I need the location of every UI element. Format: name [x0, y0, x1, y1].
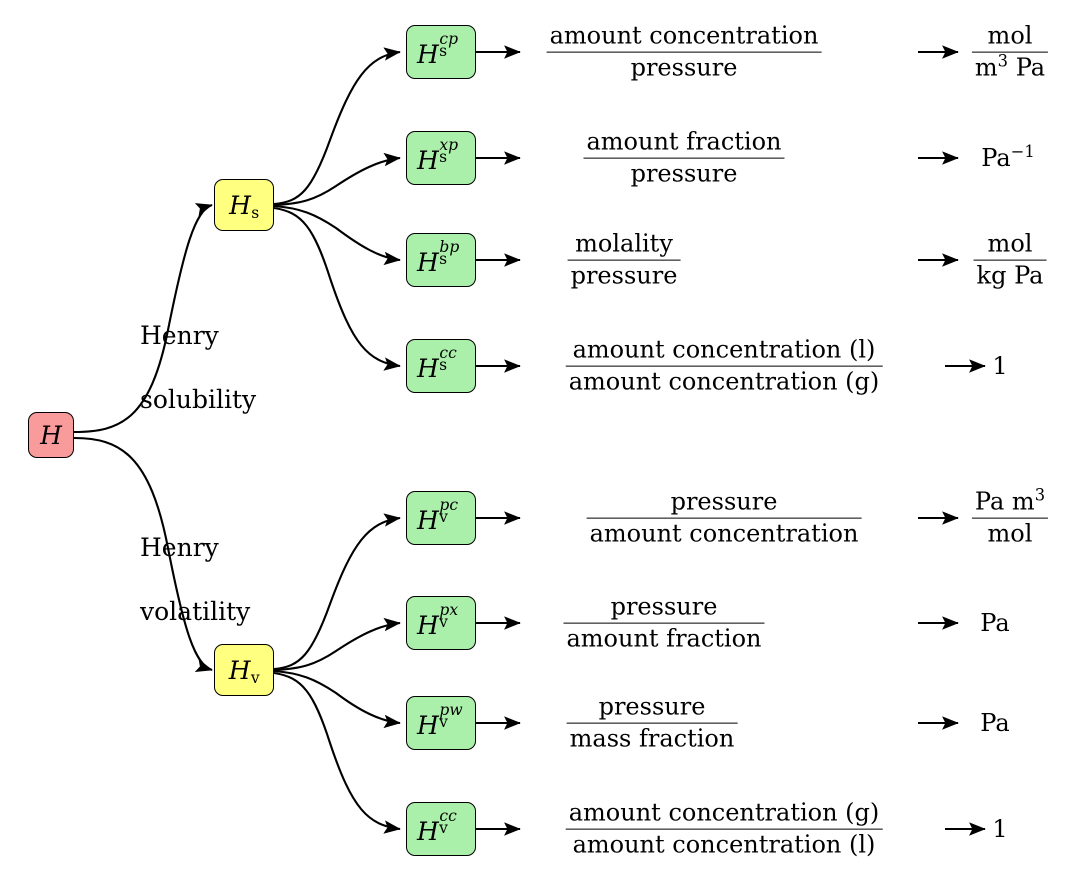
definition-hs-cp: amount concentration pressure: [547, 23, 822, 82]
definition-hs-cp-numerator: amount concentration: [547, 23, 822, 51]
edge-hs-to-hsxp: [274, 158, 400, 205]
node-hv-pc-label: Hpcv: [417, 504, 465, 533]
definition-hv-pc-denominator: amount concentration: [587, 520, 862, 548]
unit-hs-xp-exponent: −1: [1011, 142, 1035, 161]
node-hs-cp[interactable]: Hcps: [406, 25, 476, 79]
edge-hs-to-hscp: [274, 52, 400, 204]
definition-hv-cc-denominator: amount concentration (l): [566, 831, 883, 859]
fraction-bar: [547, 52, 822, 53]
fraction-bar: [568, 260, 681, 261]
unit-hv-pw-base: Pa: [980, 709, 1009, 737]
node-root-h-label: H: [40, 423, 62, 448]
node-hs-bp[interactable]: Hbps: [406, 233, 476, 287]
node-root-h[interactable]: H: [28, 412, 74, 458]
unit-hv-pw: Pa: [980, 709, 1009, 737]
unit-hv-cc: 1: [992, 815, 1007, 843]
node-hs-bp-label: Hbps: [417, 246, 465, 275]
unit-hv-px-base: Pa: [980, 609, 1009, 637]
definition-hs-cc: amount concentration (l) amount concentr…: [566, 337, 883, 396]
unit-hv-pc: Pa m3 mol: [972, 489, 1048, 548]
edge-hs-to-hscc: [274, 208, 400, 366]
definition-hs-bp: molality pressure: [568, 231, 681, 290]
node-hv-px-label: Hpxv: [417, 609, 465, 638]
node-hs-xp[interactable]: Hxps: [406, 131, 476, 185]
fraction-bar: [972, 518, 1048, 519]
unit-hs-cp-denominator: m3 Pa: [972, 54, 1048, 82]
edge-hv-to-hvpw: [274, 671, 400, 723]
edge-hv-to-hvpx: [274, 623, 400, 670]
definition-hv-px-numerator: pressure: [563, 594, 764, 622]
unit-hs-cc: 1: [992, 352, 1007, 380]
node-hs-cc[interactable]: Hccs: [406, 339, 476, 393]
node-hv-px[interactable]: Hpxv: [406, 596, 476, 650]
branch-label-volatility-line1: Henry: [140, 532, 250, 564]
node-hs-cc-label: Hccs: [417, 352, 465, 381]
fraction-bar: [567, 723, 738, 724]
definition-hs-bp-denominator: pressure: [568, 262, 681, 290]
fraction-bar: [583, 158, 784, 159]
definition-hv-pw: pressure mass fraction: [567, 694, 738, 753]
definition-hv-cc-numerator: amount concentration (g): [566, 800, 883, 828]
node-hv-cc[interactable]: Hccv: [406, 802, 476, 856]
edge-hs-to-hsbp: [274, 206, 400, 260]
fraction-bar: [972, 52, 1048, 53]
definition-hv-pw-denominator: mass fraction: [567, 725, 738, 753]
branch-label-solubility-line1: Henry: [140, 320, 256, 352]
node-hv-pc[interactable]: Hpcv: [406, 491, 476, 545]
unit-hs-cp-numerator: mol: [972, 23, 1048, 51]
unit-hs-xp-base: Pa: [981, 144, 1010, 172]
unit-hv-pc-numerator: Pa m3: [972, 489, 1048, 517]
definition-hv-pw-numerator: pressure: [567, 694, 738, 722]
fraction-bar: [563, 623, 764, 624]
node-hs-cp-label: Hcps: [417, 38, 465, 67]
definition-hv-pc-numerator: pressure: [587, 489, 862, 517]
unit-hs-bp-denominator: kg Pa: [974, 262, 1047, 290]
node-hv-pw-label: Hpwv: [417, 709, 465, 738]
definition-hs-bp-numerator: molality: [568, 231, 681, 259]
branch-label-solubility: Henry solubility: [140, 288, 256, 448]
node-hs[interactable]: Hs: [214, 179, 274, 231]
node-hs-xp-label: Hxps: [417, 144, 465, 173]
definition-hv-px: pressure amount fraction: [563, 594, 764, 653]
definition-hs-cc-denominator: amount concentration (g): [566, 368, 883, 396]
unit-hs-xp: Pa−1: [981, 144, 1034, 172]
branch-label-volatility: Henry volatility: [140, 500, 250, 660]
edge-hv-to-hvcc: [274, 673, 400, 829]
unit-hs-bp: mol kg Pa: [974, 231, 1047, 290]
unit-hv-px: Pa: [980, 609, 1009, 637]
node-hs-label: Hs: [229, 193, 259, 218]
fraction-bar: [587, 518, 862, 519]
node-hv-label: Hv: [229, 658, 260, 683]
node-hv-pw[interactable]: Hpwv: [406, 696, 476, 750]
node-hv-cc-label: Hccv: [417, 815, 465, 844]
definition-hv-cc: amount concentration (g) amount concentr…: [566, 800, 883, 859]
unit-hs-bp-numerator: mol: [974, 231, 1047, 259]
definition-hs-xp: amount fraction pressure: [583, 129, 784, 188]
fraction-bar: [566, 829, 883, 830]
branch-label-solubility-line2: solubility: [140, 384, 256, 416]
definition-hs-xp-denominator: pressure: [583, 160, 784, 188]
branch-label-volatility-line2: volatility: [140, 596, 250, 628]
unit-hv-pc-denominator: mol: [972, 520, 1048, 548]
fraction-bar: [566, 366, 883, 367]
definition-hs-cc-numerator: amount concentration (l): [566, 337, 883, 365]
definition-hv-px-denominator: amount fraction: [563, 625, 764, 653]
unit-hv-cc-base: 1: [992, 815, 1007, 843]
definition-hs-xp-numerator: amount fraction: [583, 129, 784, 157]
definition-hs-cp-denominator: pressure: [547, 54, 822, 82]
unit-hs-cp: mol m3 Pa: [972, 23, 1048, 82]
fraction-bar: [974, 260, 1047, 261]
edge-hv-to-hvpc: [274, 518, 400, 669]
definition-hv-pc: pressure amount concentration: [587, 489, 862, 548]
unit-hs-cc-base: 1: [992, 352, 1007, 380]
